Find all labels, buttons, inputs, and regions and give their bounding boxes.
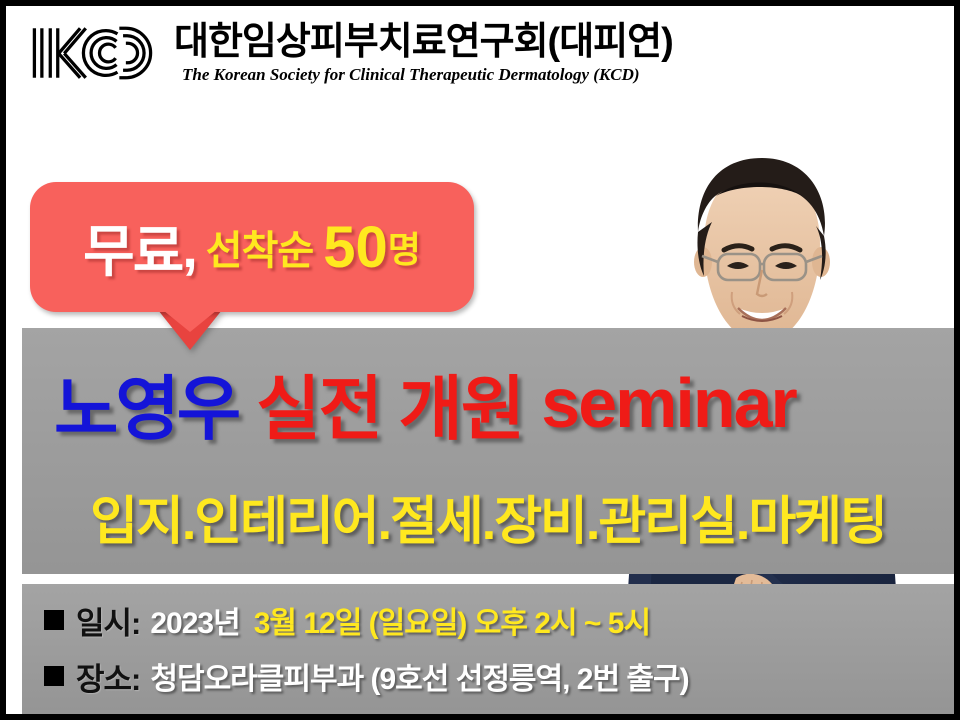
title-english: seminar (541, 363, 795, 443)
organization-name-korean: 대한임상피부치료연구회(대피연) (174, 20, 673, 64)
title-korean: 실전 개원 (256, 353, 523, 454)
badge-free-label: 무료 (83, 207, 182, 288)
date-label: 일시: (76, 598, 140, 643)
venue-line: 장소: 청담오라클피부과 (9호선 선정릉역, 2번 출구) (44, 654, 944, 698)
topics-row: 입지.인테리어.절세.장비.관리실.마케팅 (22, 482, 954, 550)
date-year: 2023년 (150, 598, 239, 642)
free-admission-badge: 무료 , 선착순 50 명 (30, 182, 474, 312)
poster-header: 대한임상피부치료연구회(대피연) The Korean Society for … (6, 6, 954, 106)
organization-name-english: The Korean Society for Clinical Therapeu… (182, 65, 673, 85)
date-line: 일시: 2023년 3월 12일 (일요일) 오후 2시 ~ 5시 (44, 598, 944, 642)
bullet-square-icon (44, 610, 64, 630)
venue-label: 장소: (76, 654, 140, 699)
badge-text: 무료 , 선착순 50 명 (30, 182, 474, 312)
badge-capacity-number: 50 (323, 214, 388, 281)
seminar-title: 노영우 실전 개원 seminar (22, 358, 954, 448)
poster-root: 대한임상피부치료연구회(대피연) The Korean Society for … (0, 0, 960, 720)
badge-first-come-label: 선착순 (206, 218, 313, 276)
bullet-square-icon (44, 666, 64, 686)
badge-comma: , (182, 215, 198, 280)
topics-list: 입지.인테리어.절세.장비.관리실.마케팅 (90, 479, 886, 554)
kcd-logo-icon (26, 16, 166, 90)
organization-block: 대한임상피부치료연구회(대피연) The Korean Society for … (174, 20, 673, 85)
bubble-tail-icon (158, 306, 222, 332)
venue-value: 청담오라클피부과 (9호선 선정릉역, 2번 출구) (150, 654, 688, 698)
date-value: 3월 12일 (일요일) 오후 2시 ~ 5시 (254, 598, 650, 642)
badge-capacity-unit: 명 (388, 221, 421, 273)
speaker-name: 노영우 (54, 353, 238, 454)
